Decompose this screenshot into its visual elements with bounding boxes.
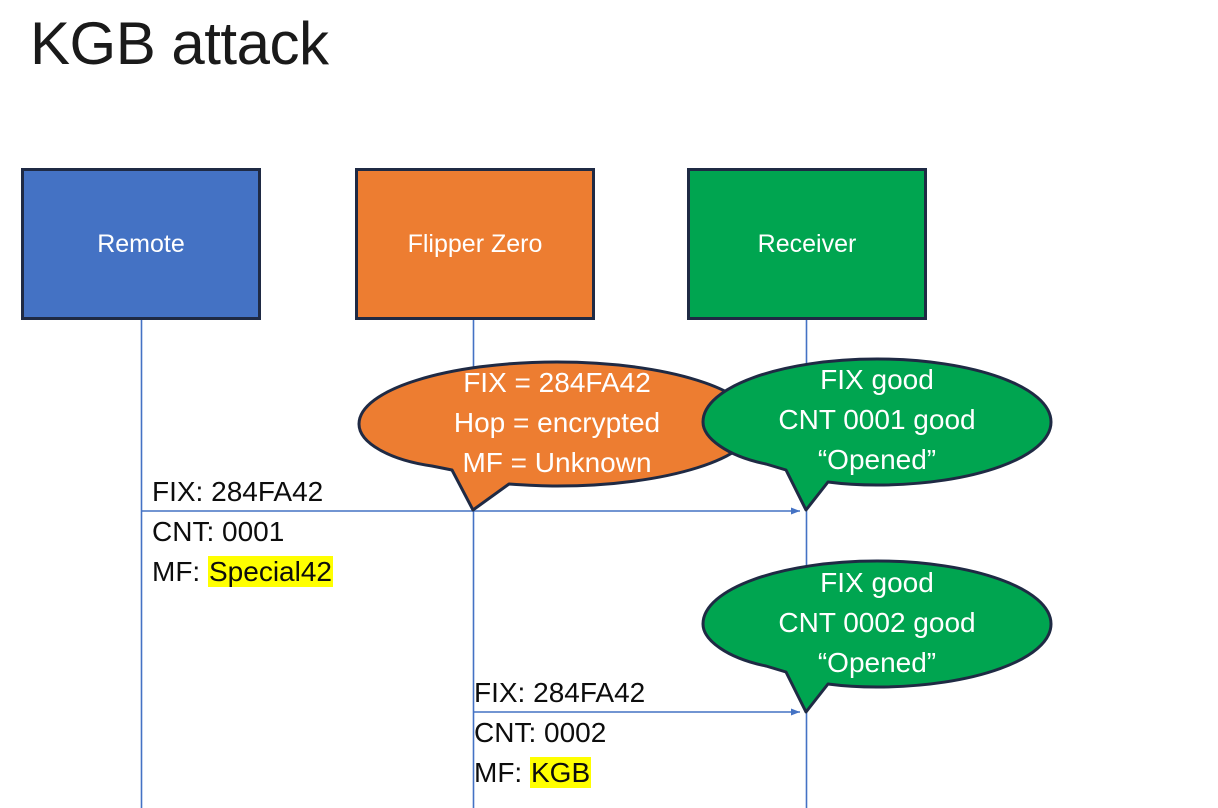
- message-label-2: FIX: 284FA42 CNT: 0002 MF: KGB: [474, 673, 645, 793]
- actor-label-receiver: Receiver: [758, 230, 857, 259]
- slide-canvas: KGB attack Remote Flipp: [0, 0, 1218, 808]
- actor-box-receiver[interactable]: Receiver: [687, 168, 927, 320]
- message-2-mf-label: MF:: [474, 757, 530, 788]
- actor-label-remote: Remote: [97, 230, 185, 259]
- message-2-fix: FIX: 284FA42: [474, 673, 645, 713]
- message-1-fix: FIX: 284FA42: [152, 472, 333, 512]
- message-1-mf-value: Special42: [208, 556, 333, 587]
- callout-receiver-2: [703, 561, 1051, 712]
- actor-box-flipper[interactable]: Flipper Zero: [355, 168, 595, 320]
- message-2-cnt: CNT: 0002: [474, 713, 645, 753]
- message-1-mf-label: MF:: [152, 556, 208, 587]
- message-2-mf: MF: KGB: [474, 753, 645, 793]
- callout-receiver-1: [703, 359, 1051, 510]
- message-1-mf: MF: Special42: [152, 552, 333, 592]
- actor-box-remote[interactable]: Remote: [21, 168, 261, 320]
- message-label-1: FIX: 284FA42 CNT: 0001 MF: Special42: [152, 472, 333, 592]
- message-1-cnt: CNT: 0001: [152, 512, 333, 552]
- callout-flipper: [359, 362, 755, 510]
- message-2-mf-value: KGB: [530, 757, 591, 788]
- actor-label-flipper: Flipper Zero: [408, 230, 543, 259]
